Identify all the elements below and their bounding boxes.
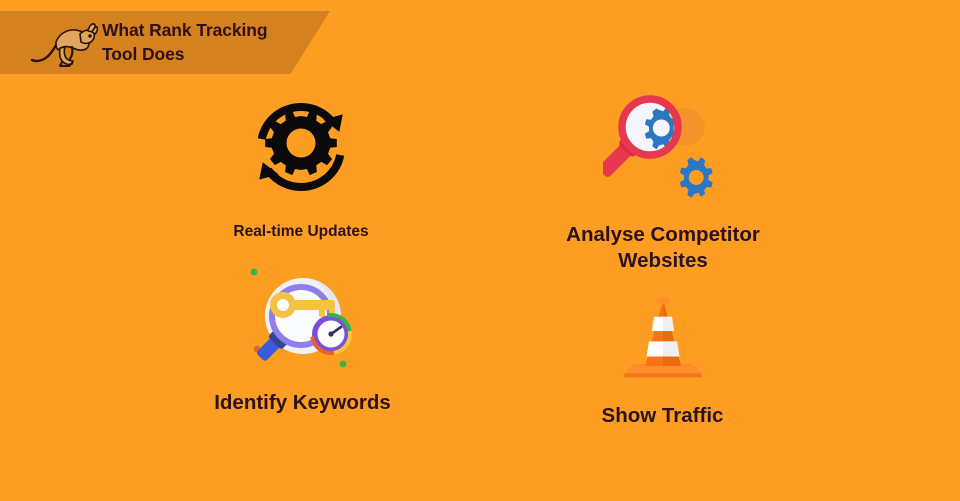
feature-item-traffic[interactable]: Show Traffic <box>555 292 770 429</box>
feature-caption-analyse: Analyse Competitor Websites <box>566 222 760 274</box>
kangaroo-logo-icon <box>26 16 98 70</box>
feature-caption-traffic: Show Traffic <box>602 403 724 429</box>
feature-caption-realtime: Real-time Updates <box>233 222 368 242</box>
feature-grid: Real-time Updates <box>0 74 960 501</box>
key-magnifier-gauge-icon <box>243 264 363 374</box>
gear-refresh-icon <box>246 92 356 202</box>
header-banner: What Rank Tracking Tool Does <box>0 11 330 74</box>
infographic-canvas: What Rank Tracking Tool Does <box>0 0 960 501</box>
traffic-cone-icon <box>611 292 715 387</box>
dot-green-2 <box>339 361 346 368</box>
feature-item-analyse[interactable]: Analyse Competitor Websites <box>548 82 778 274</box>
feature-item-realtime[interactable]: Real-time Updates <box>196 92 406 242</box>
page-title: What Rank Tracking Tool Does <box>102 19 267 65</box>
dot-green-1 <box>250 269 257 276</box>
feature-item-keywords[interactable]: Identify Keywords <box>190 264 415 416</box>
feature-caption-keywords: Identify Keywords <box>214 390 391 416</box>
magnifier-gear-icon <box>603 82 723 202</box>
